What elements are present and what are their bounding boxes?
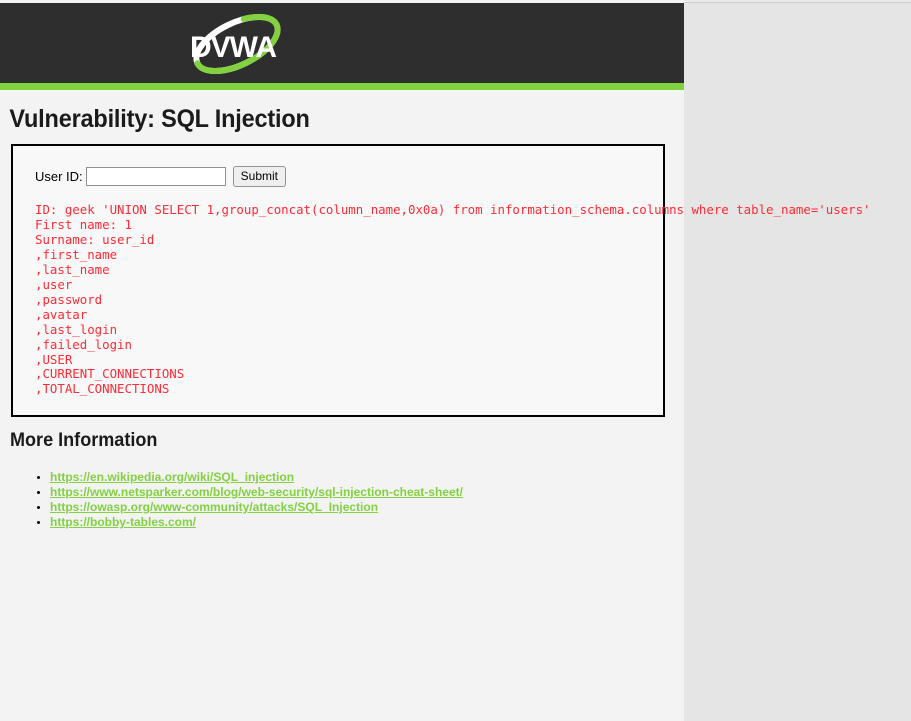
more-information-link[interactable]: https://bobby-tables.com/	[50, 515, 196, 529]
sql-output-line: ,password	[35, 293, 871, 308]
sql-output-line: ,failed_login	[35, 338, 871, 353]
sql-output-line: ,user	[35, 278, 871, 293]
site-header: DVWA	[0, 3, 684, 83]
user-id-input[interactable]	[86, 167, 226, 186]
user-id-form: User ID: Submit	[35, 166, 286, 187]
sql-output-line: ,TOTAL_CONNECTIONS	[35, 382, 871, 397]
list-item: https://owasp.org/www-community/attacks/…	[50, 500, 463, 515]
more-information-link[interactable]: https://www.netsparker.com/blog/web-secu…	[50, 485, 463, 499]
sql-output-line: ,first_name	[35, 248, 871, 263]
main-content: Vulnerability: SQL Injection User ID: Su…	[0, 90, 684, 134]
user-id-label: User ID:	[35, 169, 83, 184]
submit-button[interactable]: Submit	[233, 166, 286, 187]
page-body: DVWA Vulnerability: SQL Injection User I…	[0, 0, 684, 721]
more-information-link[interactable]: https://en.wikipedia.org/wiki/SQL_inject…	[50, 470, 294, 484]
sql-output-line: First name: 1	[35, 218, 871, 233]
sql-injection-output: ID: geek 'UNION SELECT 1,group_concat(co…	[35, 203, 871, 397]
sql-output-line: ,avatar	[35, 308, 871, 323]
vulnerability-panel: User ID: Submit ID: geek 'UNION SELECT 1…	[11, 144, 665, 417]
page-title: Vulnerability: SQL Injection	[0, 90, 643, 134]
more-information-list: https://en.wikipedia.org/wiki/SQL_inject…	[0, 470, 463, 530]
header-green-divider	[0, 83, 684, 90]
list-item: https://www.netsparker.com/blog/web-secu…	[50, 485, 463, 500]
list-item: https://en.wikipedia.org/wiki/SQL_inject…	[50, 470, 463, 485]
sql-output-line: ,last_login	[35, 323, 871, 338]
more-information-link[interactable]: https://owasp.org/www-community/attacks/…	[50, 500, 378, 514]
sql-output-line: Surname: user_id	[35, 233, 871, 248]
sql-output-line: ,USER	[35, 353, 871, 368]
list-item: https://bobby-tables.com/	[50, 515, 463, 530]
sql-output-line: ID: geek 'UNION SELECT 1,group_concat(co…	[35, 203, 871, 218]
more-information-heading: More Information	[10, 430, 157, 452]
svg-text:DVWA: DVWA	[190, 31, 276, 64]
sql-output-line: ,CURRENT_CONNECTIONS	[35, 367, 871, 382]
sql-output-line: ,last_name	[35, 263, 871, 278]
dvwa-logo[interactable]: DVWA	[176, 9, 298, 79]
